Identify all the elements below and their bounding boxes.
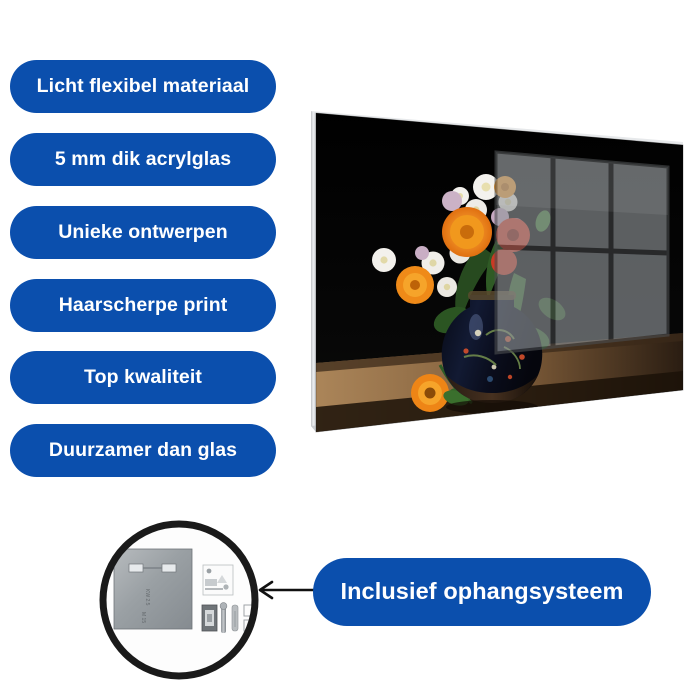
instruction-leaflet	[203, 565, 233, 595]
feature-pill-5-mm-dik-acrylglas[interactable]: 5 mm dik acrylglas	[10, 133, 276, 186]
wall-anchor	[232, 605, 238, 631]
feature-pill-unieke-ontwerpen[interactable]: Unieke ontwerpen	[10, 206, 276, 259]
screw	[220, 603, 227, 633]
feature-pill-haarscherpe-print[interactable]: Haarscherpe print	[10, 279, 276, 332]
feature-pill-top-kwaliteit[interactable]: Top kwaliteit	[10, 351, 276, 404]
hanging-kit-circle-callout: KW 2.5 M 15	[96, 517, 262, 683]
mounting-plate: KW 2.5 M 15	[114, 549, 192, 629]
feature-pill-duurzamer-dan-glas[interactable]: Duurzamer dan glas	[10, 424, 276, 477]
wall-bracket	[202, 605, 217, 631]
svg-text:KW 2.5: KW 2.5	[144, 589, 150, 606]
product-infographic: Licht flexibel materiaal 5 mm dik acrylg…	[0, 0, 700, 700]
acrylic-edge-left	[311, 111, 316, 432]
svg-text:M 15: M 15	[140, 612, 146, 623]
artwork-image	[300, 95, 700, 455]
callout-pill-inclusief-ophangsysteem[interactable]: Inclusief ophangsysteem	[313, 558, 651, 626]
product-preview-acrylic-print	[300, 95, 700, 455]
feature-pill-licht-flexibel-materiaal[interactable]: Licht flexibel materiaal	[10, 60, 276, 113]
